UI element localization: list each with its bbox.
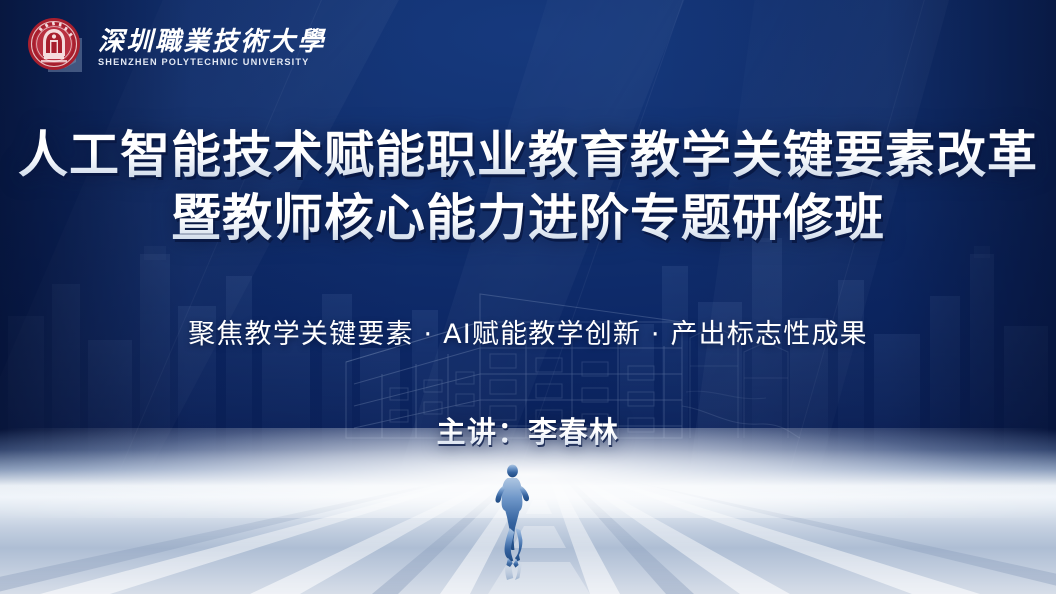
running-figure-silhouette [489, 464, 535, 582]
university-name-en: SHENZHEN POLYTECHNIC UNIVERSITY [98, 56, 326, 70]
title-line-1: 人工智能技术赋能职业教育教学关键要素改革 [0, 124, 1056, 187]
title-line-2: 暨教师核心能力进阶专题研修班 [0, 187, 1056, 250]
title-slide: 深圳職業技術大學 SHENZHEN POLYTECHNIC UNIVERSITY… [0, 0, 1056, 594]
university-logo: 深圳職業技術大學 SHENZHEN POLYTECHNIC UNIVERSITY [26, 8, 326, 86]
speaker-label: 主讲：李春林 [0, 409, 1056, 451]
university-name-block: 深圳職業技術大學 SHENZHEN POLYTECHNIC UNIVERSITY [98, 25, 326, 70]
main-title: 人工智能技术赋能职业教育教学关键要素改革 暨教师核心能力进阶专题研修班 [0, 124, 1056, 250]
subtitle: 聚焦教学关键要素 · AI赋能教学创新 · 产出标志性成果 [0, 312, 1056, 351]
university-seal-icon [26, 16, 88, 78]
university-name-cn: 深圳職業技術大學 [98, 27, 326, 56]
